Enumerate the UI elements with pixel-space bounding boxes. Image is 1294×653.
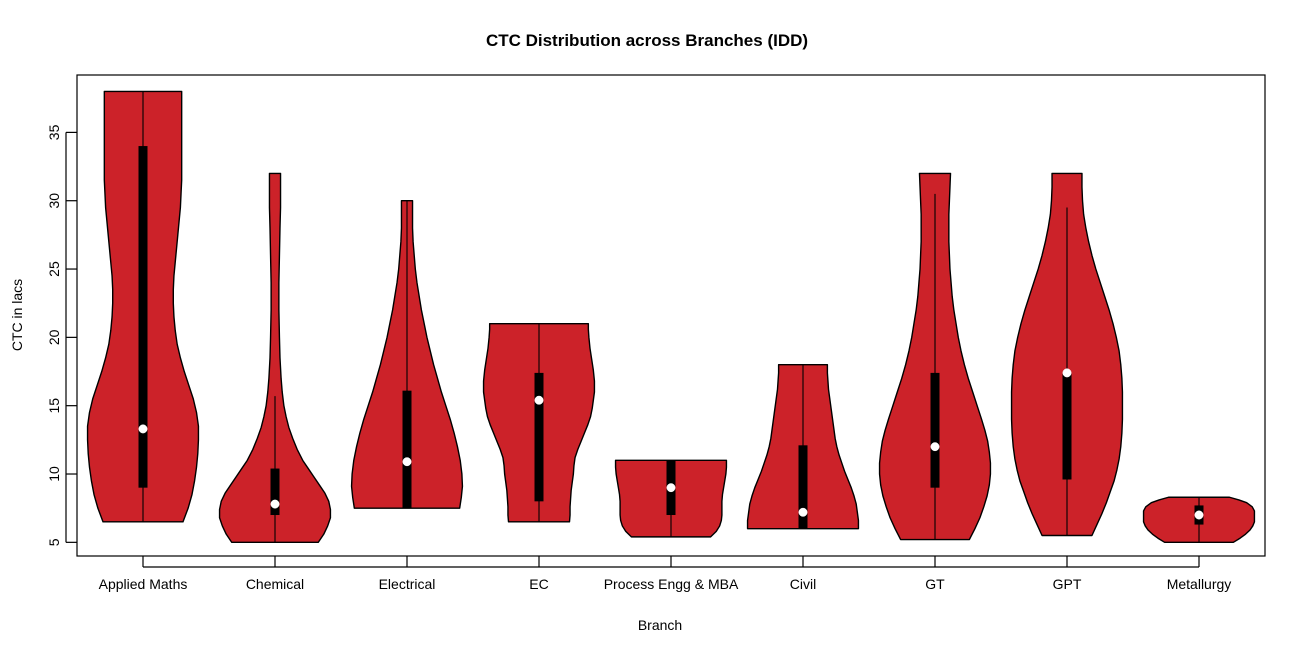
plot-canvas: CTC Distribution across Branches (IDD) C…: [0, 0, 1294, 653]
x-tick-label-electrical: Electrical: [379, 576, 436, 592]
iqr-box: [535, 373, 544, 501]
x-tick-label-ec: EC: [529, 576, 548, 592]
x-tick-label-gpt: GPT: [1053, 576, 1082, 592]
violin-series-group: [88, 91, 1255, 542]
violin-plot-figure: CTC Distribution across Branches (IDD) C…: [0, 0, 1294, 653]
violin-electrical: [352, 201, 463, 508]
violin-ec: [484, 324, 595, 522]
y-tick-label: 35: [46, 124, 62, 140]
iqr-box: [931, 373, 940, 488]
y-tick-label: 10: [46, 466, 62, 482]
x-tick-label-chemical: Chemical: [246, 576, 304, 592]
x-tick-label-applied-maths: Applied Maths: [99, 576, 188, 592]
median-marker: [403, 458, 411, 466]
median-marker: [1195, 511, 1203, 519]
violin-gt: [880, 173, 991, 539]
median-marker: [799, 508, 807, 516]
violin-gpt: [1012, 173, 1123, 535]
iqr-box: [139, 146, 148, 488]
median-marker: [535, 396, 543, 404]
x-tick-label-gt: GT: [925, 576, 945, 592]
violin-process-engg-mba: [616, 460, 727, 537]
x-axis: Applied MathsChemicalElectricalECProcess…: [99, 556, 1232, 592]
y-axis: 5101520253035: [46, 124, 77, 546]
violin-chemical: [220, 173, 331, 542]
iqr-box: [1063, 373, 1072, 480]
median-marker: [931, 442, 939, 450]
violin-metallurgy: [1144, 497, 1255, 542]
y-tick-label: 25: [46, 261, 62, 277]
y-tick-label: 20: [46, 329, 62, 345]
y-axis-title: CTC in lacs: [9, 279, 25, 351]
y-tick-label: 30: [46, 193, 62, 209]
x-axis-title: Branch: [638, 617, 682, 633]
chart-title: CTC Distribution across Branches (IDD): [486, 31, 808, 50]
median-marker: [271, 500, 279, 508]
median-marker: [667, 483, 675, 491]
median-marker: [1063, 369, 1071, 377]
violin-applied-maths: [88, 91, 199, 521]
x-tick-label-civil: Civil: [790, 576, 816, 592]
median-marker: [139, 425, 147, 433]
x-tick-label-process-engg-mba: Process Engg & MBA: [604, 576, 739, 592]
y-tick-label: 15: [46, 398, 62, 414]
iqr-box: [403, 391, 412, 509]
x-tick-label-metallurgy: Metallurgy: [1167, 576, 1232, 592]
violin-civil: [748, 365, 859, 529]
y-tick-label: 5: [46, 538, 62, 546]
